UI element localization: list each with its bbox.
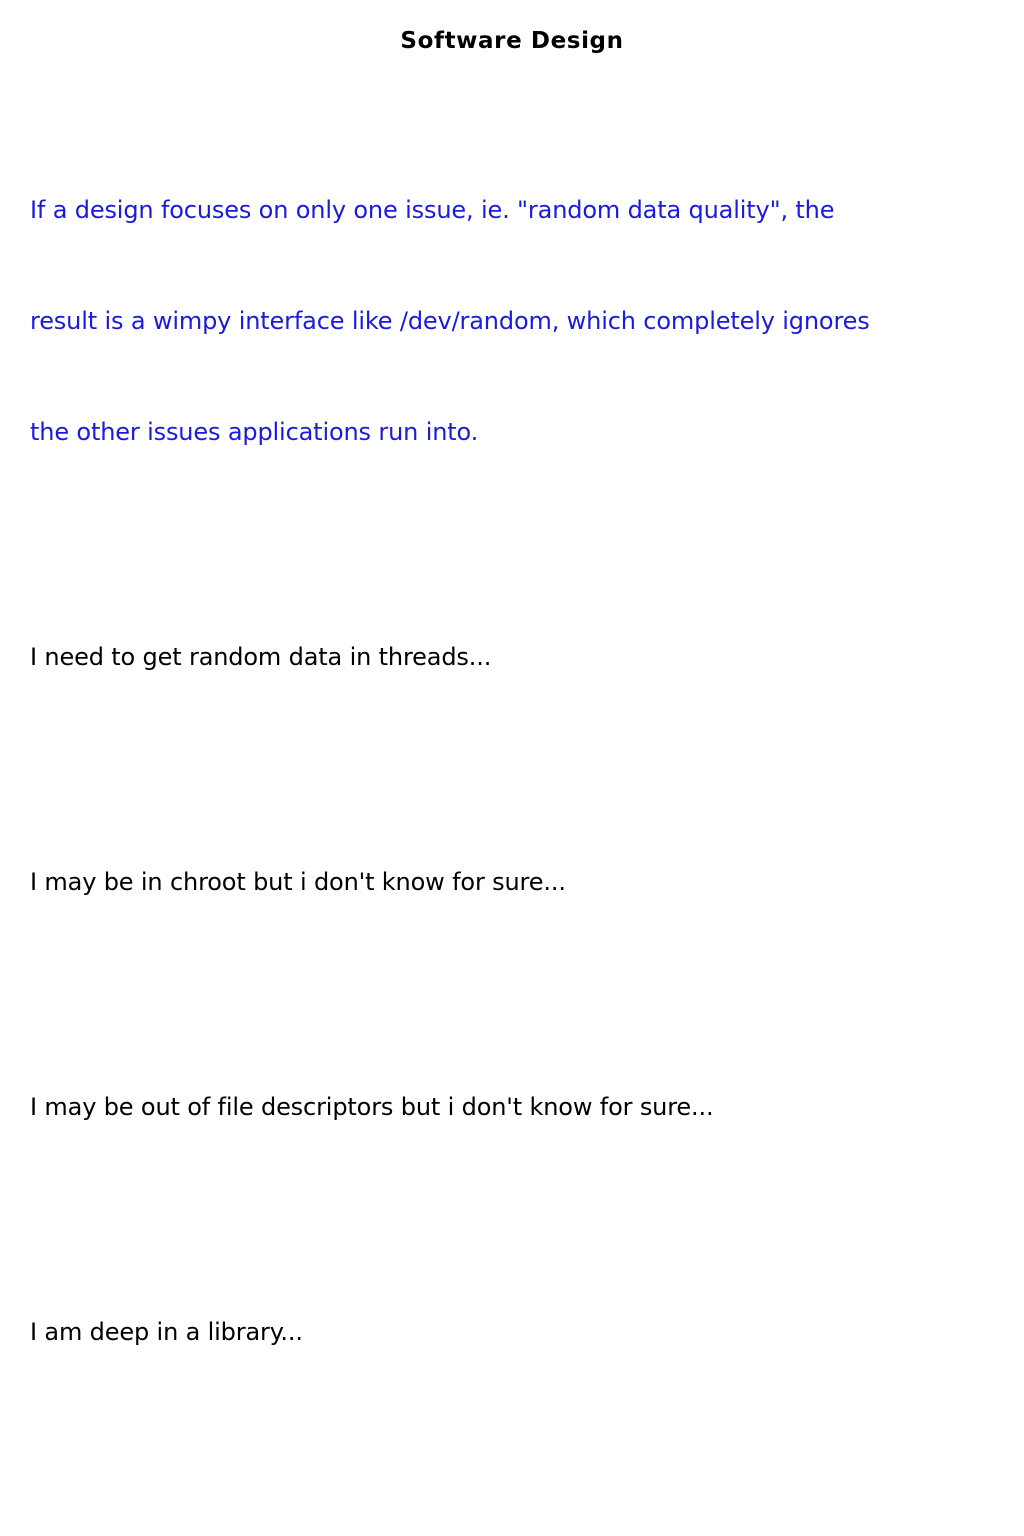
slide-canvas: Software Design If a design focuses on o… xyxy=(0,0,1024,768)
highlight-line: If a design focuses on only one issue, i… xyxy=(30,192,1024,229)
body-paragraph: I am deep in a library... xyxy=(30,1240,1024,1425)
body-paragraph: I may be in chroot but i don't know for … xyxy=(30,790,1024,975)
body-paragraph: I am the DNS resolver in libc - opening … xyxy=(30,1465,1024,1536)
slide-body: If a design focuses on only one issue, i… xyxy=(30,118,1024,1536)
body-paragraph: I may be out of file descriptors but i d… xyxy=(30,1015,1024,1200)
highlight-line: the other issues applications run into. xyxy=(30,414,1024,451)
body-line: I am deep in a library... xyxy=(30,1314,1024,1351)
highlight-line: result is a wimpy interface like /dev/ra… xyxy=(30,303,1024,340)
body-line: I need to get random data in threads... xyxy=(30,639,1024,676)
page-title: Software Design xyxy=(0,26,1024,56)
body-paragraph: I need to get random data in threads... xyxy=(30,565,1024,750)
highlight-paragraph: If a design focuses on only one issue, i… xyxy=(30,118,1024,525)
body-line: I may be out of file descriptors but i d… xyxy=(30,1089,1024,1126)
body-line: I may be in chroot but i don't know for … xyxy=(30,864,1024,901)
